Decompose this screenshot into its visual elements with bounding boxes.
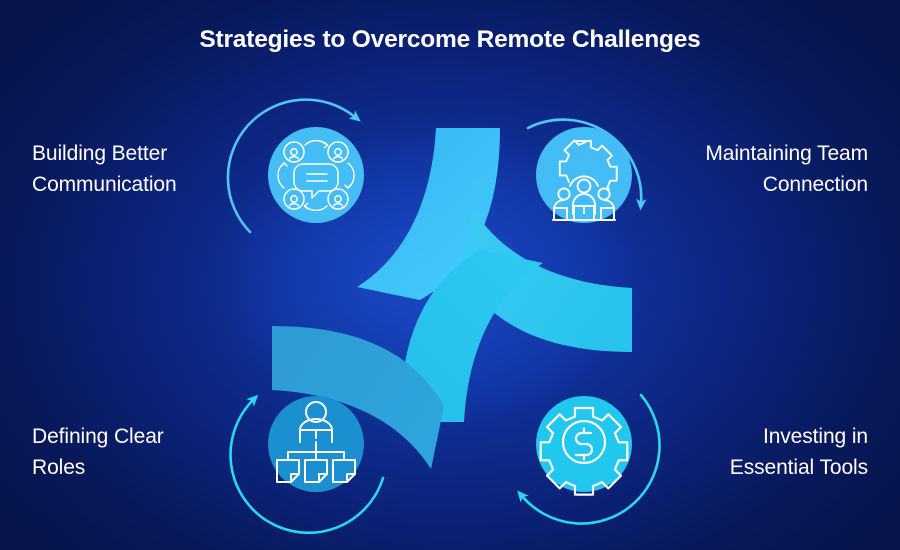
page-title: Strategies to Overcome Remote Challenges: [0, 26, 900, 54]
infographic-canvas: Strategies to Overcome Remote Challenges…: [0, 0, 900, 550]
label-line-2: Roles: [32, 452, 247, 483]
label-maintaining-team-connection: Maintaining Team Connection: [643, 138, 868, 200]
label-line-2: Connection: [643, 169, 868, 200]
label-line-1: Building Better: [32, 138, 247, 169]
label-line-1: Investing in: [643, 421, 868, 452]
node-maintaining-team-connection[interactable]: [536, 127, 632, 223]
node-building-better-communication[interactable]: [268, 127, 364, 223]
node-investing-in-essential-tools[interactable]: [536, 396, 632, 495]
label-defining-clear-roles: Defining Clear Roles: [32, 421, 247, 483]
label-line-1: Maintaining Team: [643, 138, 868, 169]
label-building-better-communication: Building Better Communication: [32, 138, 247, 200]
node-defining-clear-roles[interactable]: [268, 396, 364, 492]
label-line-1: Defining Clear: [32, 421, 247, 452]
label-line-2: Communication: [32, 169, 247, 200]
label-line-2: Essential Tools: [643, 452, 868, 483]
label-investing-in-essential-tools: Investing in Essential Tools: [643, 421, 868, 483]
node-circle-communication[interactable]: [268, 127, 364, 223]
